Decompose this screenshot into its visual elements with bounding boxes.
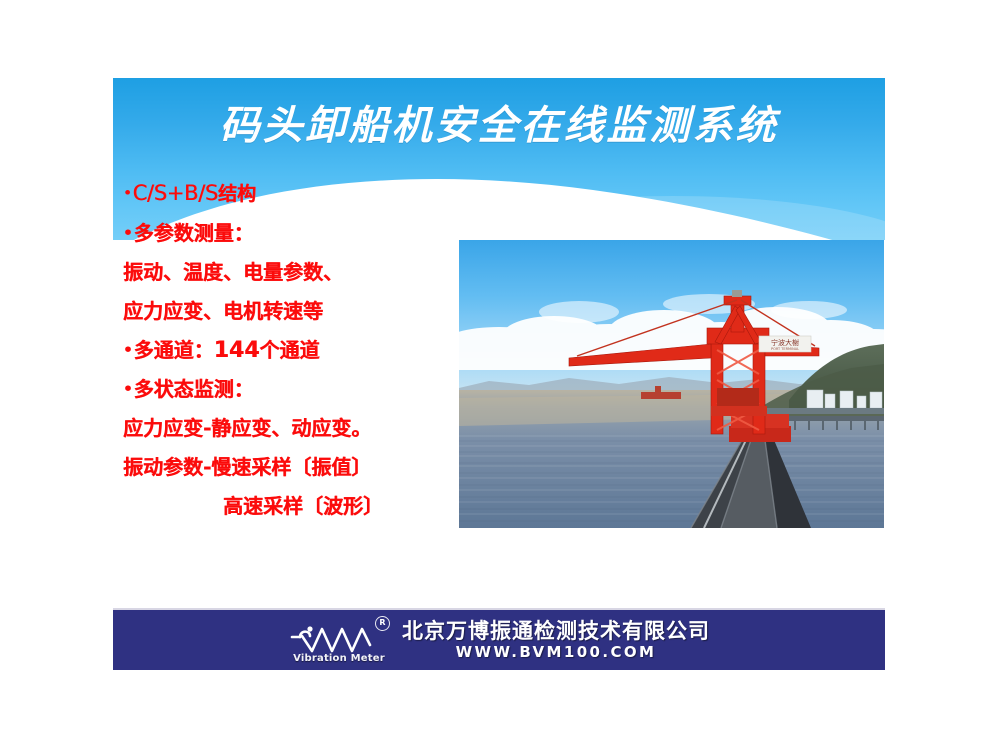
list-item-multistate: •多状态监测： <box>123 370 483 409</box>
bullet-dot: • <box>123 224 133 242</box>
list-item-cs-bs-latin: C/S+B/S <box>133 181 218 205</box>
list-item-multiparam: •多参数测量： <box>123 214 483 253</box>
slide-canvas: 码头卸船机安全在线监测系统 •C/S+B/S结构 •多参数测量： 振动、温度、电… <box>113 78 885 668</box>
list-item-params-1: 振动、温度、电量参数、 <box>123 253 483 292</box>
company-website[interactable]: WWW.BVM100.COM <box>402 643 710 661</box>
registered-trademark-icon: R <box>375 616 390 631</box>
photo-illustration: 宁波大榭 PORT TERMINAL <box>459 240 884 528</box>
list-item-vibration-fast: 高速采样〔波形〕 <box>123 487 483 526</box>
bullet-dot: • <box>123 380 133 398</box>
list-item-params-2: 应力应变、电机转速等 <box>123 292 483 331</box>
list-item-channels-tail: 个通道 <box>260 338 320 362</box>
page-title: 码头卸船机安全在线监测系统 <box>113 106 885 146</box>
list-item-vibration-fast-label: 高速采样〔波形〕 <box>223 494 383 518</box>
list-item-channels-label: 多通道： <box>134 338 214 362</box>
list-item-strain: 应力应变-静应变、动应变。 <box>123 409 483 448</box>
bullet-dot: • <box>123 184 132 202</box>
crane-sign-text: 宁波大榭 <box>771 338 799 347</box>
list-item-vibration-slow: 振动参数-慢速采样〔振值〕 <box>123 448 483 487</box>
list-item-vibration-slow-label: 振动参数-慢速采样〔振值〕 <box>123 455 371 479</box>
logo-wordmark: Vibration Meter <box>292 653 386 664</box>
harbour-crane-photo: 宁波大榭 PORT TERMINAL <box>459 240 884 528</box>
list-item-params-2-label: 应力应变、电机转速等 <box>123 299 323 323</box>
list-item-strain-label: 应力应变-静应变、动应变。 <box>123 416 371 440</box>
vibration-meter-logo: R Vibration Meter <box>288 617 388 663</box>
list-item-channels: •多通道：144个通道 <box>123 331 483 370</box>
list-item-multiparam-label: 多参数测量： <box>134 221 254 245</box>
bullet-dot: • <box>123 341 133 359</box>
footer-bar: R Vibration Meter 北京万博振通检测技术有限公司 WWW.BVM… <box>113 608 885 670</box>
channel-count: 144 <box>214 338 260 363</box>
list-item-params-1-label: 振动、温度、电量参数、 <box>123 260 343 284</box>
bullet-list: •C/S+B/S结构 •多参数测量： 振动、温度、电量参数、 应力应变、电机转速… <box>123 174 483 526</box>
company-name: 北京万博振通检测技术有限公司 <box>402 619 710 643</box>
list-item-cs-bs: •C/S+B/S结构 <box>123 174 483 214</box>
list-item-multistate-label: 多状态监测： <box>134 377 254 401</box>
svg-text:PORT TERMINAL: PORT TERMINAL <box>771 347 799 351</box>
list-item-cs-bs-cjk: 结构 <box>218 183 256 205</box>
